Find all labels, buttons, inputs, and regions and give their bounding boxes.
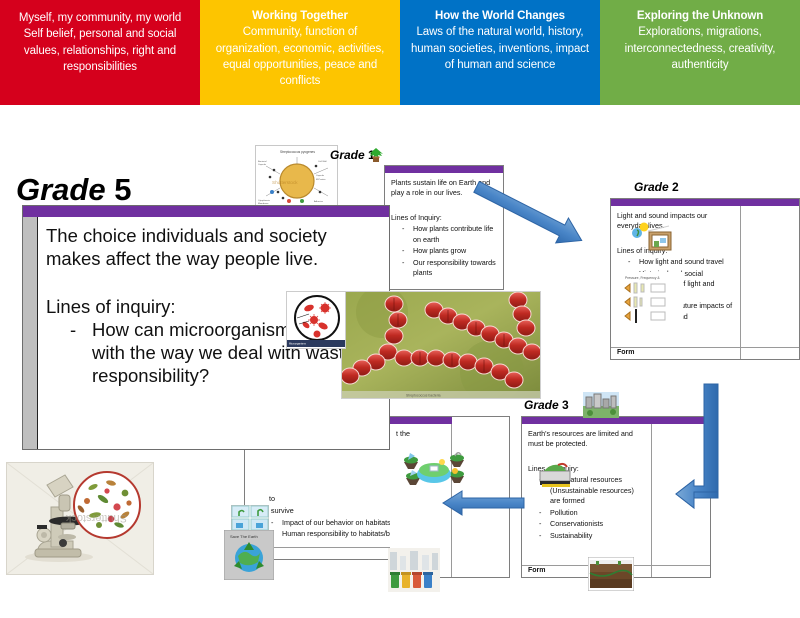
- svg-text:Shutterstock: Shutterstock: [272, 180, 298, 185]
- grade-2-label-text: Grade: [634, 180, 669, 194]
- arrow-grade2-to-grade3: [672, 382, 732, 522]
- list-item: How light and sound travel: [628, 257, 735, 267]
- city-landscape-icon: [583, 392, 619, 418]
- grade-3-central-idea: Earth's resources are limited and must b…: [528, 429, 646, 450]
- grade-3-card-column-main: Earth's resources are limited and must b…: [522, 424, 652, 577]
- list-item: Conservationists: [539, 519, 646, 529]
- theme-cell-how-the-world-changes[interactable]: How the World Changes Laws of the natura…: [400, 0, 600, 105]
- theme-title: Working Together: [210, 8, 390, 24]
- biome-islands-icon: [398, 448, 470, 494]
- theme-title: Myself, my community, my world: [10, 10, 190, 26]
- grade-3-label-text: Grade: [524, 398, 559, 412]
- grade-4-fragment-top: t the: [396, 429, 446, 439]
- grade-1-label-text: Grade: [330, 148, 365, 162]
- recycling-bins-icon: [388, 548, 440, 592]
- svg-text:Save The Earth: Save The Earth: [230, 534, 258, 539]
- bacteria-photo-image: Streptococcus bacteria: [341, 291, 541, 399]
- theme-cell-exploring-the-unknown[interactable]: Exploring the Unknown Explorations, migr…: [600, 0, 800, 105]
- grade-2-card-accent-bar: [611, 199, 799, 206]
- svg-text:Streptococcus pyogenes: Streptococcus pyogenes: [280, 150, 315, 154]
- theme-description: Laws of the natural world, history, huma…: [410, 24, 590, 73]
- blood-cells-circle-image: Microorganisms: [286, 291, 346, 349]
- arrow-grade1-to-grade2: [455, 178, 620, 258]
- svg-text:Shutterstock: Shutterstock: [65, 512, 127, 524]
- coal-seam-icon: [588, 557, 634, 591]
- svg-text:Bacterial: Bacterial: [258, 160, 267, 163]
- svg-text:Microorganisms: Microorganisms: [289, 343, 307, 346]
- grade-2-card-footer: Form: [611, 347, 799, 359]
- theme-title: Exploring the Unknown: [610, 8, 790, 24]
- list-item: Pollution: [539, 508, 646, 518]
- theme-title: How the World Changes: [410, 8, 590, 24]
- potted-plant-icon: [366, 146, 386, 164]
- plant-growth-icon: [231, 505, 269, 531]
- svg-text:Capsule: Capsule: [316, 175, 325, 177]
- theme-cell-working-together[interactable]: Working Together Community, function of …: [200, 0, 400, 105]
- svg-text:Cytoplasmic: Cytoplasmic: [258, 199, 271, 202]
- save-the-earth-icon: Save The Earth: [224, 530, 274, 580]
- grade-2-label: Grade 2: [634, 180, 679, 194]
- grade-5-central-idea: The choice individuals and society makes…: [46, 224, 383, 271]
- svg-text:Adhesins: Adhesins: [314, 200, 324, 203]
- grade-2-card-column-side: Pressure, Frequency &: [741, 206, 799, 359]
- theme-description: Self belief, personal and social values,…: [10, 26, 190, 75]
- grade-2-card[interactable]: Light and sound impacts our everyday liv…: [610, 198, 800, 360]
- cell-diagram-image: Streptococcus pyogenes Shutterstock Bact…: [255, 145, 338, 211]
- arrow-grade3-to-grade4: [440, 490, 526, 520]
- grade-5-side-rail: [23, 217, 38, 449]
- list-item: Our responsibility towards plants: [402, 258, 498, 279]
- transdisciplinary-theme-banner: Myself, my community, my world Self beli…: [0, 0, 800, 105]
- slide-canvas: Myself, my community, my world Self beli…: [0, 0, 800, 618]
- card-accent-bar: [390, 417, 452, 424]
- list-item: Sustainability: [539, 531, 646, 541]
- svg-text:Capsule: Capsule: [258, 164, 267, 166]
- grade-2-label-number: 2: [672, 180, 679, 194]
- svg-text:Cell Wall: Cell Wall: [318, 161, 327, 163]
- theme-description: Explorations, migrations, interconnected…: [610, 24, 790, 73]
- grade-5-label-text: Grade: [16, 172, 106, 207]
- theme-cell-myself-my-community-my-world[interactable]: Myself, my community, my world Self beli…: [0, 0, 200, 105]
- svg-text:Streptococcus bacteria: Streptococcus bacteria: [406, 394, 441, 398]
- svg-text:M-Protein: M-Protein: [316, 178, 326, 181]
- grade-5-label-number: 5: [114, 172, 131, 207]
- theme-description: Community, function of organization, eco…: [210, 24, 390, 89]
- grade-3-label-number: 3: [562, 398, 569, 412]
- grade-5-label: Grade 5: [16, 172, 131, 208]
- grade-3-label: Grade 3: [524, 398, 569, 412]
- microscope-stock-image: Shutterstock: [6, 462, 154, 575]
- grade-1-card-accent-bar: [385, 166, 503, 173]
